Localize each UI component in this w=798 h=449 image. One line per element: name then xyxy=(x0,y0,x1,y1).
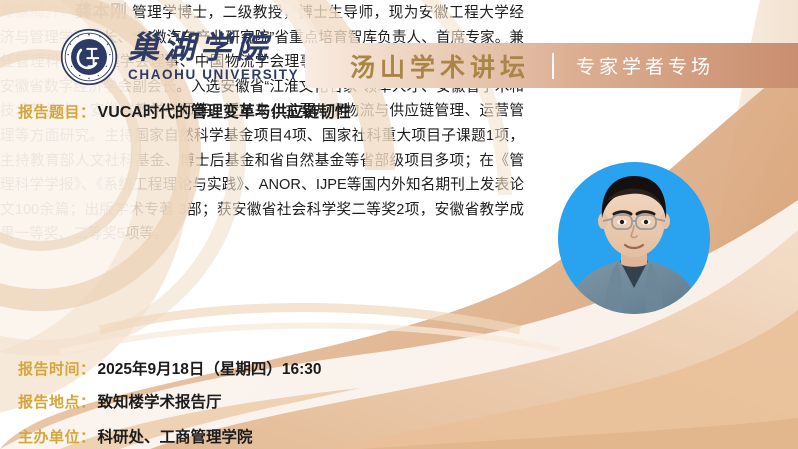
logo-english-name: CHAOHU UNIVERSITY xyxy=(128,67,299,82)
report-place-value: 致知楼学术报告厅 xyxy=(98,390,222,412)
banner-title: 汤山学术讲坛 xyxy=(350,48,530,84)
logo-chinese-name: 巢湖学院 xyxy=(128,32,299,65)
report-place-label: 报告地点： xyxy=(18,391,96,412)
banner-subtitle: 专家学者专场 xyxy=(576,52,714,79)
report-time-label: 报告时间： xyxy=(18,358,96,379)
speaker-bio-label: 专家简介： xyxy=(0,0,75,25)
chaohu-university-seal-icon xyxy=(60,28,118,86)
university-logo: 巢湖学院 CHAOHU UNIVERSITY xyxy=(60,28,299,86)
report-host-value: 科研处、工商管理学院 xyxy=(98,425,253,447)
report-time-value: 2025年9月18日（星期四）16:30 xyxy=(98,357,322,379)
decor-thin-arcs xyxy=(60,308,560,353)
report-title-row: 报告题目： VUCA时代的管理变革与供应链韧性 xyxy=(18,98,351,122)
report-place-row: 报告地点： 致知楼学术报告厅 xyxy=(18,390,222,412)
report-title-label: 报告题目： xyxy=(18,101,96,122)
report-host-label: 主办单位： xyxy=(18,426,96,447)
poster-root: 巢湖学院 CHAOHU UNIVERSITY 汤山学术讲坛 专家学者专场 报告题… xyxy=(0,0,798,449)
forum-banner: 汤山学术讲坛 专家学者专场 xyxy=(305,43,798,88)
report-host-row: 主办单位： 科研处、工商管理学院 xyxy=(18,425,253,447)
speaker-name: 龚本刚 xyxy=(75,2,128,21)
report-title-value: VUCA时代的管理变革与供应链韧性 xyxy=(98,98,351,122)
speaker-portrait xyxy=(558,162,710,314)
report-time-row: 报告时间： 2025年9月18日（星期四）16:30 xyxy=(18,357,322,379)
banner-divider xyxy=(552,53,554,79)
